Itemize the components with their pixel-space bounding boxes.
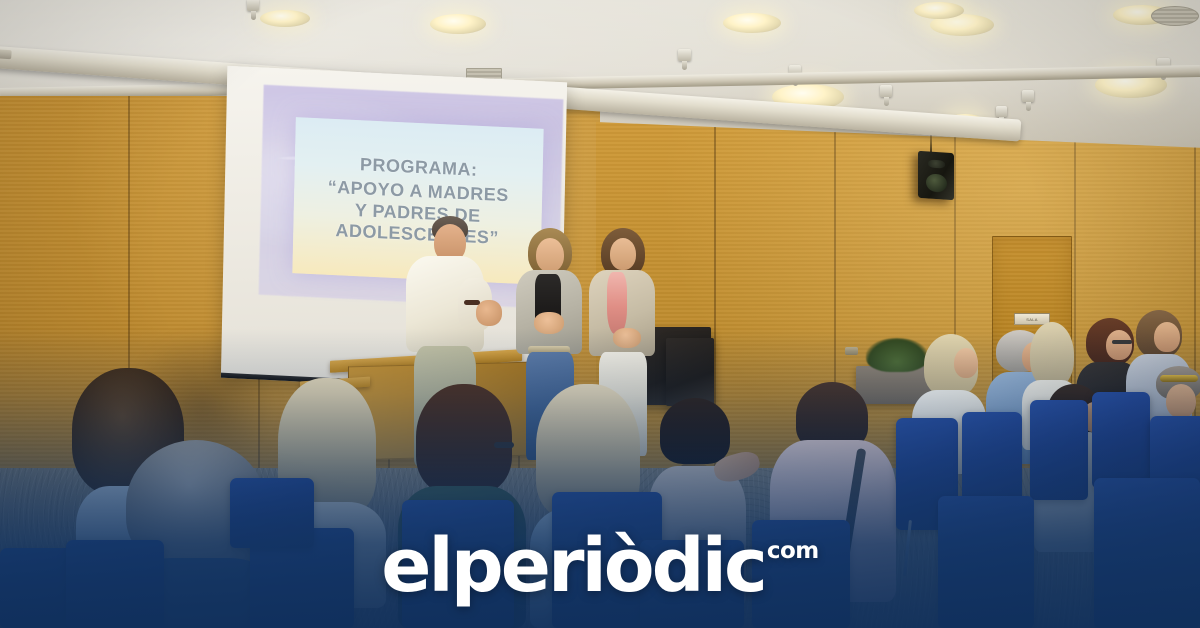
audience-hair <box>1030 322 1074 388</box>
speaker-tweeter <box>928 159 945 169</box>
audience-chair <box>938 496 1034 628</box>
audience-head <box>1154 322 1180 352</box>
ceiling-downlight-icon <box>430 14 486 34</box>
wall-socket <box>845 347 858 355</box>
stage-dark-cabinet <box>666 338 714 406</box>
audience-chair <box>640 540 744 628</box>
audience-chair <box>1092 392 1150 488</box>
speaker-man-hands <box>476 300 502 326</box>
speaker-woman-center-hands <box>534 312 564 334</box>
speaker-woman-center-head <box>536 238 564 272</box>
ceiling-downlight-icon <box>723 13 781 33</box>
audience-chair <box>1030 400 1088 500</box>
sprinkler-icon <box>678 49 691 61</box>
audience-chair <box>230 478 314 548</box>
roller-brand-cap <box>0 49 12 59</box>
air-vent-icon <box>1151 6 1199 26</box>
audience-head <box>954 348 978 378</box>
speaker-woofer <box>926 173 947 193</box>
audience-chair <box>1094 478 1200 628</box>
sprinkler-icon <box>247 0 259 11</box>
speaker-man-wristband <box>464 300 480 305</box>
audience-chair <box>66 540 164 628</box>
sprinkler-icon <box>996 106 1007 117</box>
audience-chair <box>752 520 850 628</box>
ceiling-downlight-icon <box>914 2 964 19</box>
audience-hair-bun <box>660 398 730 464</box>
speaker-woman-right-head <box>610 238 636 270</box>
sprinkler-icon <box>1022 90 1034 102</box>
audience-head <box>1166 384 1196 418</box>
photo-scene: SALA PROGRAMA: “APOYO A MADRES Y PADRES … <box>0 0 1200 628</box>
speaker-woman-right-hands <box>613 328 641 348</box>
audience-hair <box>416 384 512 494</box>
slide-line-1: PROGRAMA: <box>360 154 478 181</box>
sunglasses-icon <box>1160 375 1198 382</box>
eyeglasses-icon <box>494 442 514 448</box>
ceiling-downlight-icon <box>260 10 310 27</box>
speaker-woman-right-scarf <box>607 272 627 334</box>
sprinkler-icon <box>880 85 892 97</box>
loudspeaker-icon <box>918 151 954 201</box>
audience-chair <box>402 500 514 628</box>
